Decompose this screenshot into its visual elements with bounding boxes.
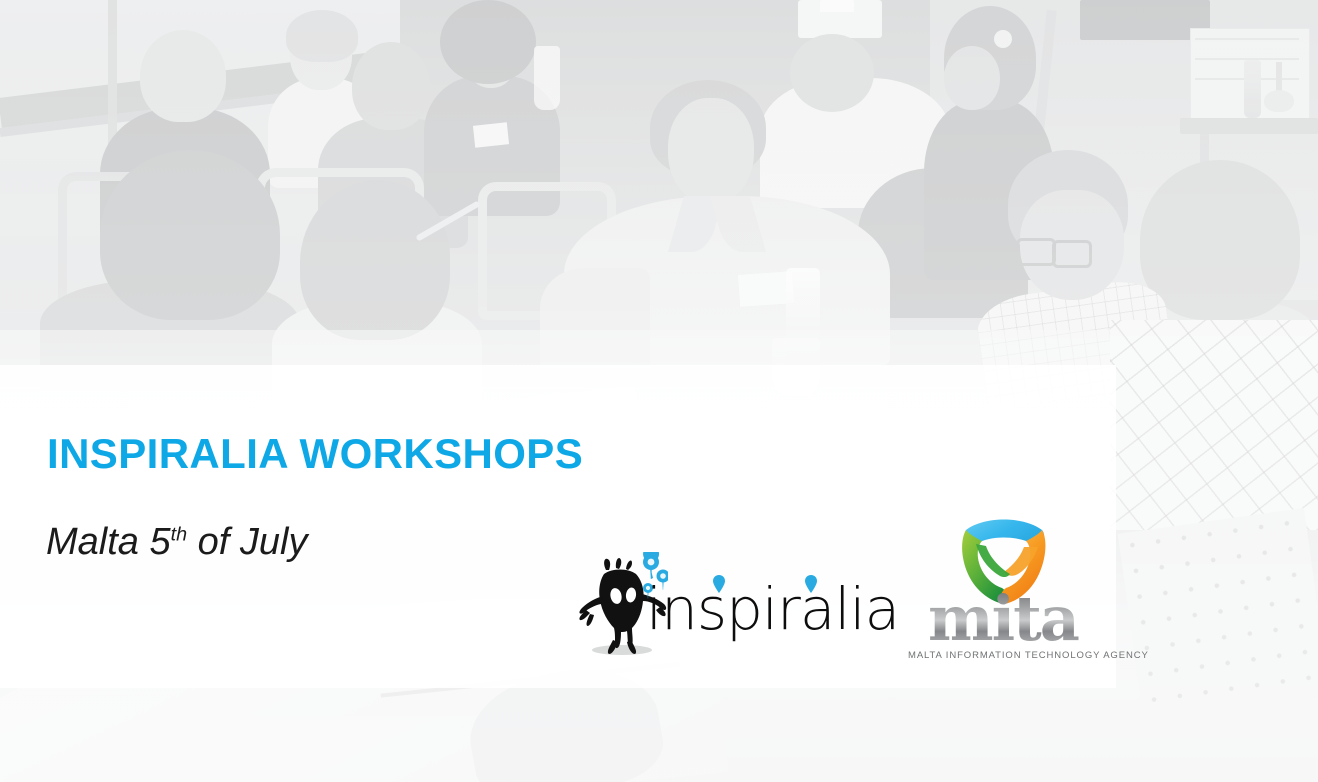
eyeglasses-lens [1052, 240, 1092, 268]
tissue [820, 0, 854, 12]
inspiralia-i-dot-icon [804, 574, 818, 594]
water-carafe [1244, 60, 1261, 118]
polkadot-garment [1118, 508, 1318, 722]
person-hair [1140, 160, 1300, 320]
flipchart-line [1195, 38, 1299, 40]
inspiralia-i-dot-icon [712, 574, 726, 594]
mita-logo: mita MALTA INFORMATION TECHNOLOGY AGENCY [908, 514, 1098, 662]
subtitle-month: of July [187, 521, 307, 563]
person-head [944, 46, 1000, 110]
person-hair [286, 10, 358, 62]
person-head [790, 34, 874, 112]
mita-tagline: MALTA INFORMATION TECHNOLOGY AGENCY [908, 650, 1098, 661]
eyeglasses-lens [1016, 238, 1056, 266]
name-badge [473, 122, 509, 147]
person-hair [440, 0, 536, 84]
mita-wordmark: mita [908, 588, 1098, 650]
hair-flower [994, 30, 1012, 48]
person-hair [300, 180, 450, 340]
person-head [668, 98, 754, 204]
inspiralia-logo: inspiralia [576, 552, 876, 656]
slide-subtitle: Malta 5th of July [46, 521, 308, 564]
person-head [352, 42, 430, 130]
presentation-slide: INSPIRALIA WORKSHOPS Malta 5th of July [0, 0, 1318, 782]
checkered-shirt-foreground [1110, 320, 1318, 530]
person-hair [100, 150, 280, 320]
inspiralia-wordmark: inspiralia [646, 580, 899, 638]
person-hair [140, 30, 226, 122]
side-table [1180, 118, 1318, 134]
water-glass [534, 46, 560, 110]
subtitle-ordinal-suffix: th [171, 523, 187, 545]
subtitle-location-date: Malta 5 [46, 521, 171, 563]
lamp-shade [1264, 90, 1294, 112]
page-title: INSPIRALIA WORKSHOPS [47, 430, 583, 478]
